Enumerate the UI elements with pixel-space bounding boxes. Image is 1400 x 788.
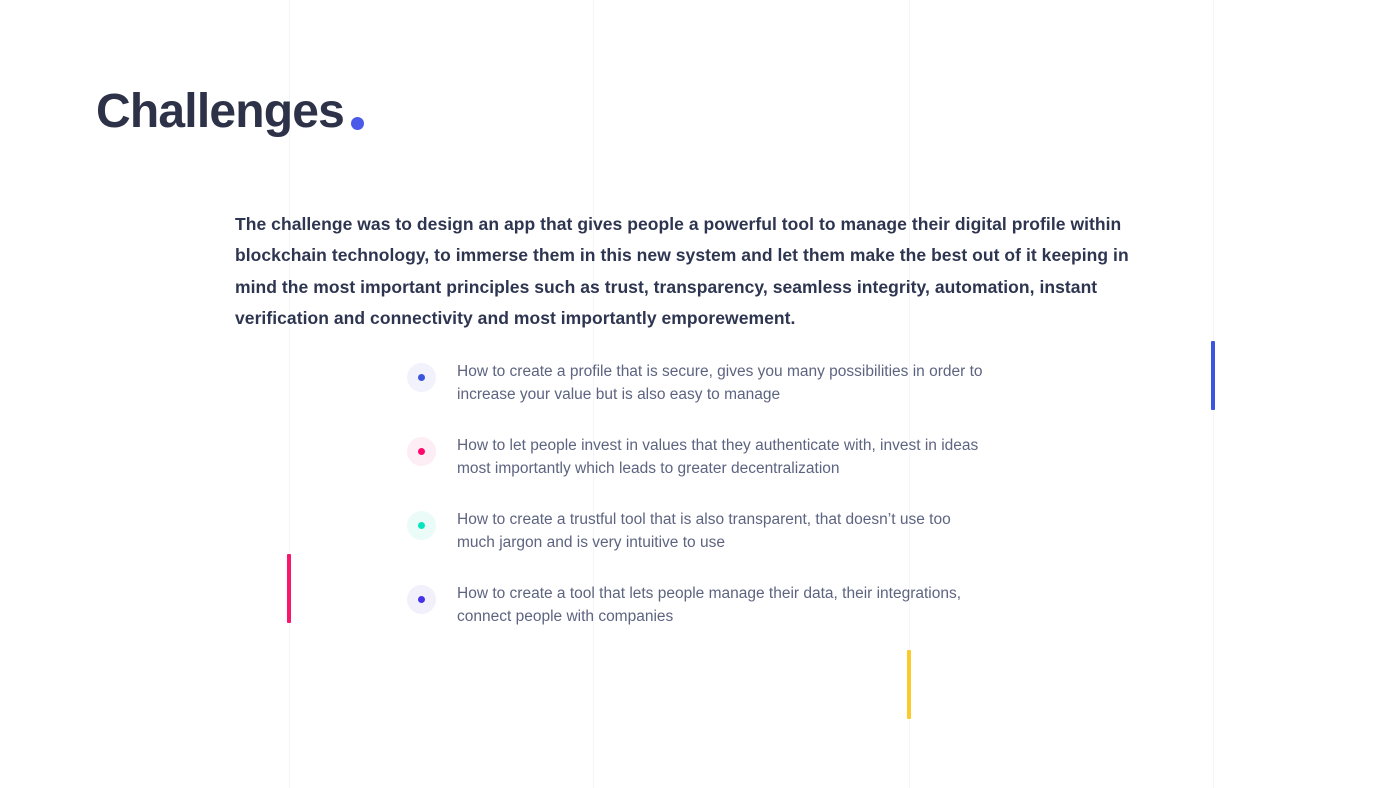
bullet-dot-core (418, 522, 425, 529)
challenges-slide: Challenges The challenge was to design a… (0, 0, 1400, 788)
bullet-dot-icon (407, 511, 436, 540)
bullet-dot-icon (407, 437, 436, 466)
list-item: How to create a tool that lets people ma… (407, 583, 1047, 628)
list-item: How to let people invest in values that … (407, 435, 1047, 480)
bullet-dot-icon (407, 585, 436, 614)
challenges-list: How to create a profile that is secure, … (407, 361, 1047, 628)
list-item: How to create a trustful tool that is al… (407, 509, 1047, 554)
list-item-text: How to let people invest in values that … (457, 435, 992, 480)
page-title-text: Challenges (96, 88, 344, 136)
accent-bar-blue (1211, 341, 1215, 410)
bullet-dot-icon (407, 363, 436, 392)
title-accent-dot (351, 117, 364, 130)
list-item: How to create a profile that is secure, … (407, 361, 1047, 406)
page-title: Challenges (96, 88, 364, 136)
accent-bar-pink (287, 554, 291, 623)
bullet-dot-core (418, 596, 425, 603)
accent-bar-yellow (907, 650, 911, 719)
bullet-dot-core (418, 448, 425, 455)
bullet-dot-core (418, 374, 425, 381)
list-item-text: How to create a profile that is secure, … (457, 361, 992, 406)
list-item-text: How to create a trustful tool that is al… (457, 509, 992, 554)
intro-paragraph: The challenge was to design an app that … (235, 209, 1165, 335)
list-item-text: How to create a tool that lets people ma… (457, 583, 992, 628)
